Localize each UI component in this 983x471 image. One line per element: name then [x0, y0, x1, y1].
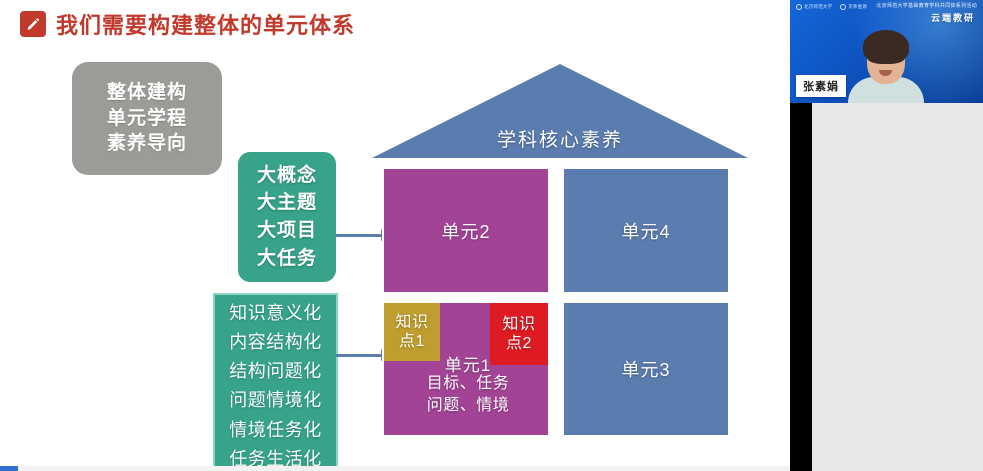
unit-box-1: 知识 点1 知识 点2 单元1 目标、任务 问题、情境 — [382, 301, 550, 437]
slide-title-row: 我们需要构建整体的单元体系 — [20, 8, 355, 40]
black-divider-strip — [790, 103, 812, 471]
unit-box-3: 单元3 — [562, 301, 730, 437]
step-line-1: 知识意义化 — [229, 299, 322, 328]
screenshot-root: 我们需要构建整体的单元体系 整体建构 单元学程 素养导向 大概念 大主题 大项目… — [0, 0, 983, 471]
scrollbar-thumb[interactable] — [0, 466, 18, 471]
presenter-hair — [863, 30, 909, 63]
gray-principles-box: 整体建构 单元学程 素养导向 — [72, 62, 222, 175]
gray-box-line-2: 单元学程 — [107, 107, 187, 131]
presenter-name-tag: 张素娟 — [796, 75, 846, 97]
video-logos: 北京师范大学 京师金源 — [796, 4, 867, 10]
big-concept-line-2: 大主题 — [257, 189, 317, 217]
horizontal-scrollbar[interactable] — [0, 466, 790, 471]
presenter-video-tile[interactable]: 北京师范大学 京师金源 北京师范大学基础教育学科共同体系列活动 云端教研 张素娟 — [790, 0, 983, 103]
gray-box-line-1: 整体建构 — [107, 81, 187, 105]
step-line-5: 情境任务化 — [229, 416, 322, 445]
side-panel-empty — [790, 103, 983, 471]
page-title: 我们需要构建整体的单元体系 — [56, 8, 355, 40]
partner-logo: 京师金源 — [840, 4, 867, 10]
unit-box-4: 单元4 — [562, 167, 730, 294]
big-concept-line-4: 大任务 — [257, 245, 317, 273]
university-logo: 北京师范大学 — [796, 4, 832, 10]
big-concept-line-1: 大概念 — [257, 162, 317, 190]
unit-1-detail: 目标、任务 问题、情境 — [384, 373, 552, 416]
unit-box-2: 单元2 — [382, 167, 550, 294]
unit-1-detail-line-1: 目标、任务 — [384, 373, 552, 395]
edit-pencil-icon — [20, 11, 46, 37]
kp-1-line-1: 知识 — [395, 313, 428, 332]
video-header-subtitle: 云端教研 — [931, 11, 975, 24]
unit-3-label: 单元3 — [621, 356, 670, 382]
partner-logo-text: 京师金源 — [848, 4, 867, 10]
kp-1-line-2: 点1 — [399, 332, 425, 351]
roof-label: 学科核心素养 — [370, 125, 750, 152]
unit-4-label: 单元4 — [621, 218, 670, 244]
right-column: 北京师范大学 京师金源 北京师范大学基础教育学科共同体系列活动 云端教研 张素娟 — [790, 0, 983, 471]
teal-big-concepts-box: 大概念 大主题 大项目 大任务 — [238, 152, 336, 282]
house-diagram: 学科核心素养 单元2 单元4 单元3 知识 点1 知识 点2 单元1 — [370, 62, 750, 447]
big-concept-line-3: 大项目 — [257, 217, 317, 245]
step-line-2: 内容结构化 — [229, 328, 322, 357]
logo-mark-icon — [840, 4, 846, 10]
university-logo-text: 北京师范大学 — [804, 4, 832, 10]
gray-box-line-3: 素养导向 — [107, 132, 187, 156]
step-line-3: 结构问题化 — [229, 357, 322, 386]
logo-mark-icon — [796, 4, 802, 10]
video-header-line: 北京师范大学基础教育学科共同体系列活动 — [876, 2, 977, 9]
unit-1-detail-line-2: 问题、情境 — [384, 395, 552, 417]
teal-six-steps-box: 知识意义化 内容结构化 结构问题化 问题情境化 情境任务化 任务生活化 — [213, 293, 338, 471]
unit-2-label: 单元2 — [441, 218, 490, 244]
kp-2-line-1: 知识 — [502, 315, 535, 334]
step-line-4: 问题情境化 — [229, 386, 322, 415]
presenter-avatar — [846, 26, 926, 103]
slide-canvas: 我们需要构建整体的单元体系 整体建构 单元学程 素养导向 大概念 大主题 大项目… — [0, 0, 790, 471]
